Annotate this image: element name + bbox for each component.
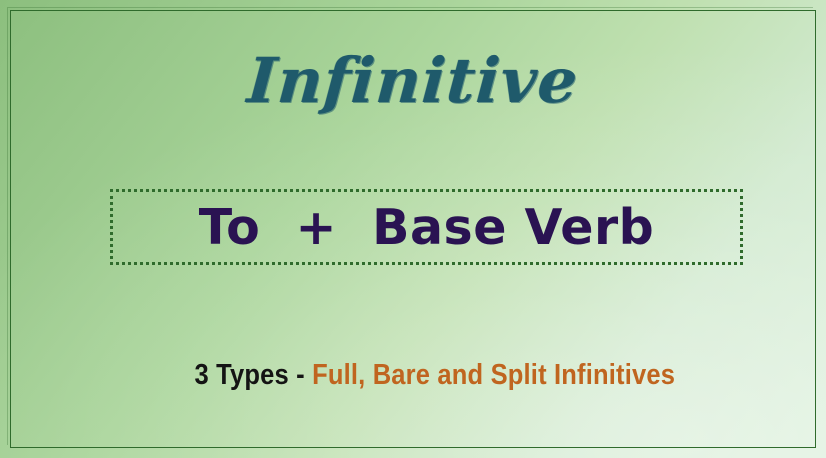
subtitle-lead: 3 Types [195,359,289,391]
slide-canvas: Infinitive To + Base Verb 3 Types - Full… [0,0,826,458]
formula-box: To + Base Verb [110,189,743,265]
subtitle-types: Full, Bare and Split Infinitives [312,359,675,391]
subtitle-dash: - [289,359,312,391]
subtitle: 3 Types - Full, Bare and Split Infinitiv… [50,328,777,424]
page-title: Infinitive [0,48,826,113]
formula-text: To + Base Verb [199,203,654,252]
slide-content: Infinitive To + Base Verb 3 Types - Full… [0,0,826,458]
